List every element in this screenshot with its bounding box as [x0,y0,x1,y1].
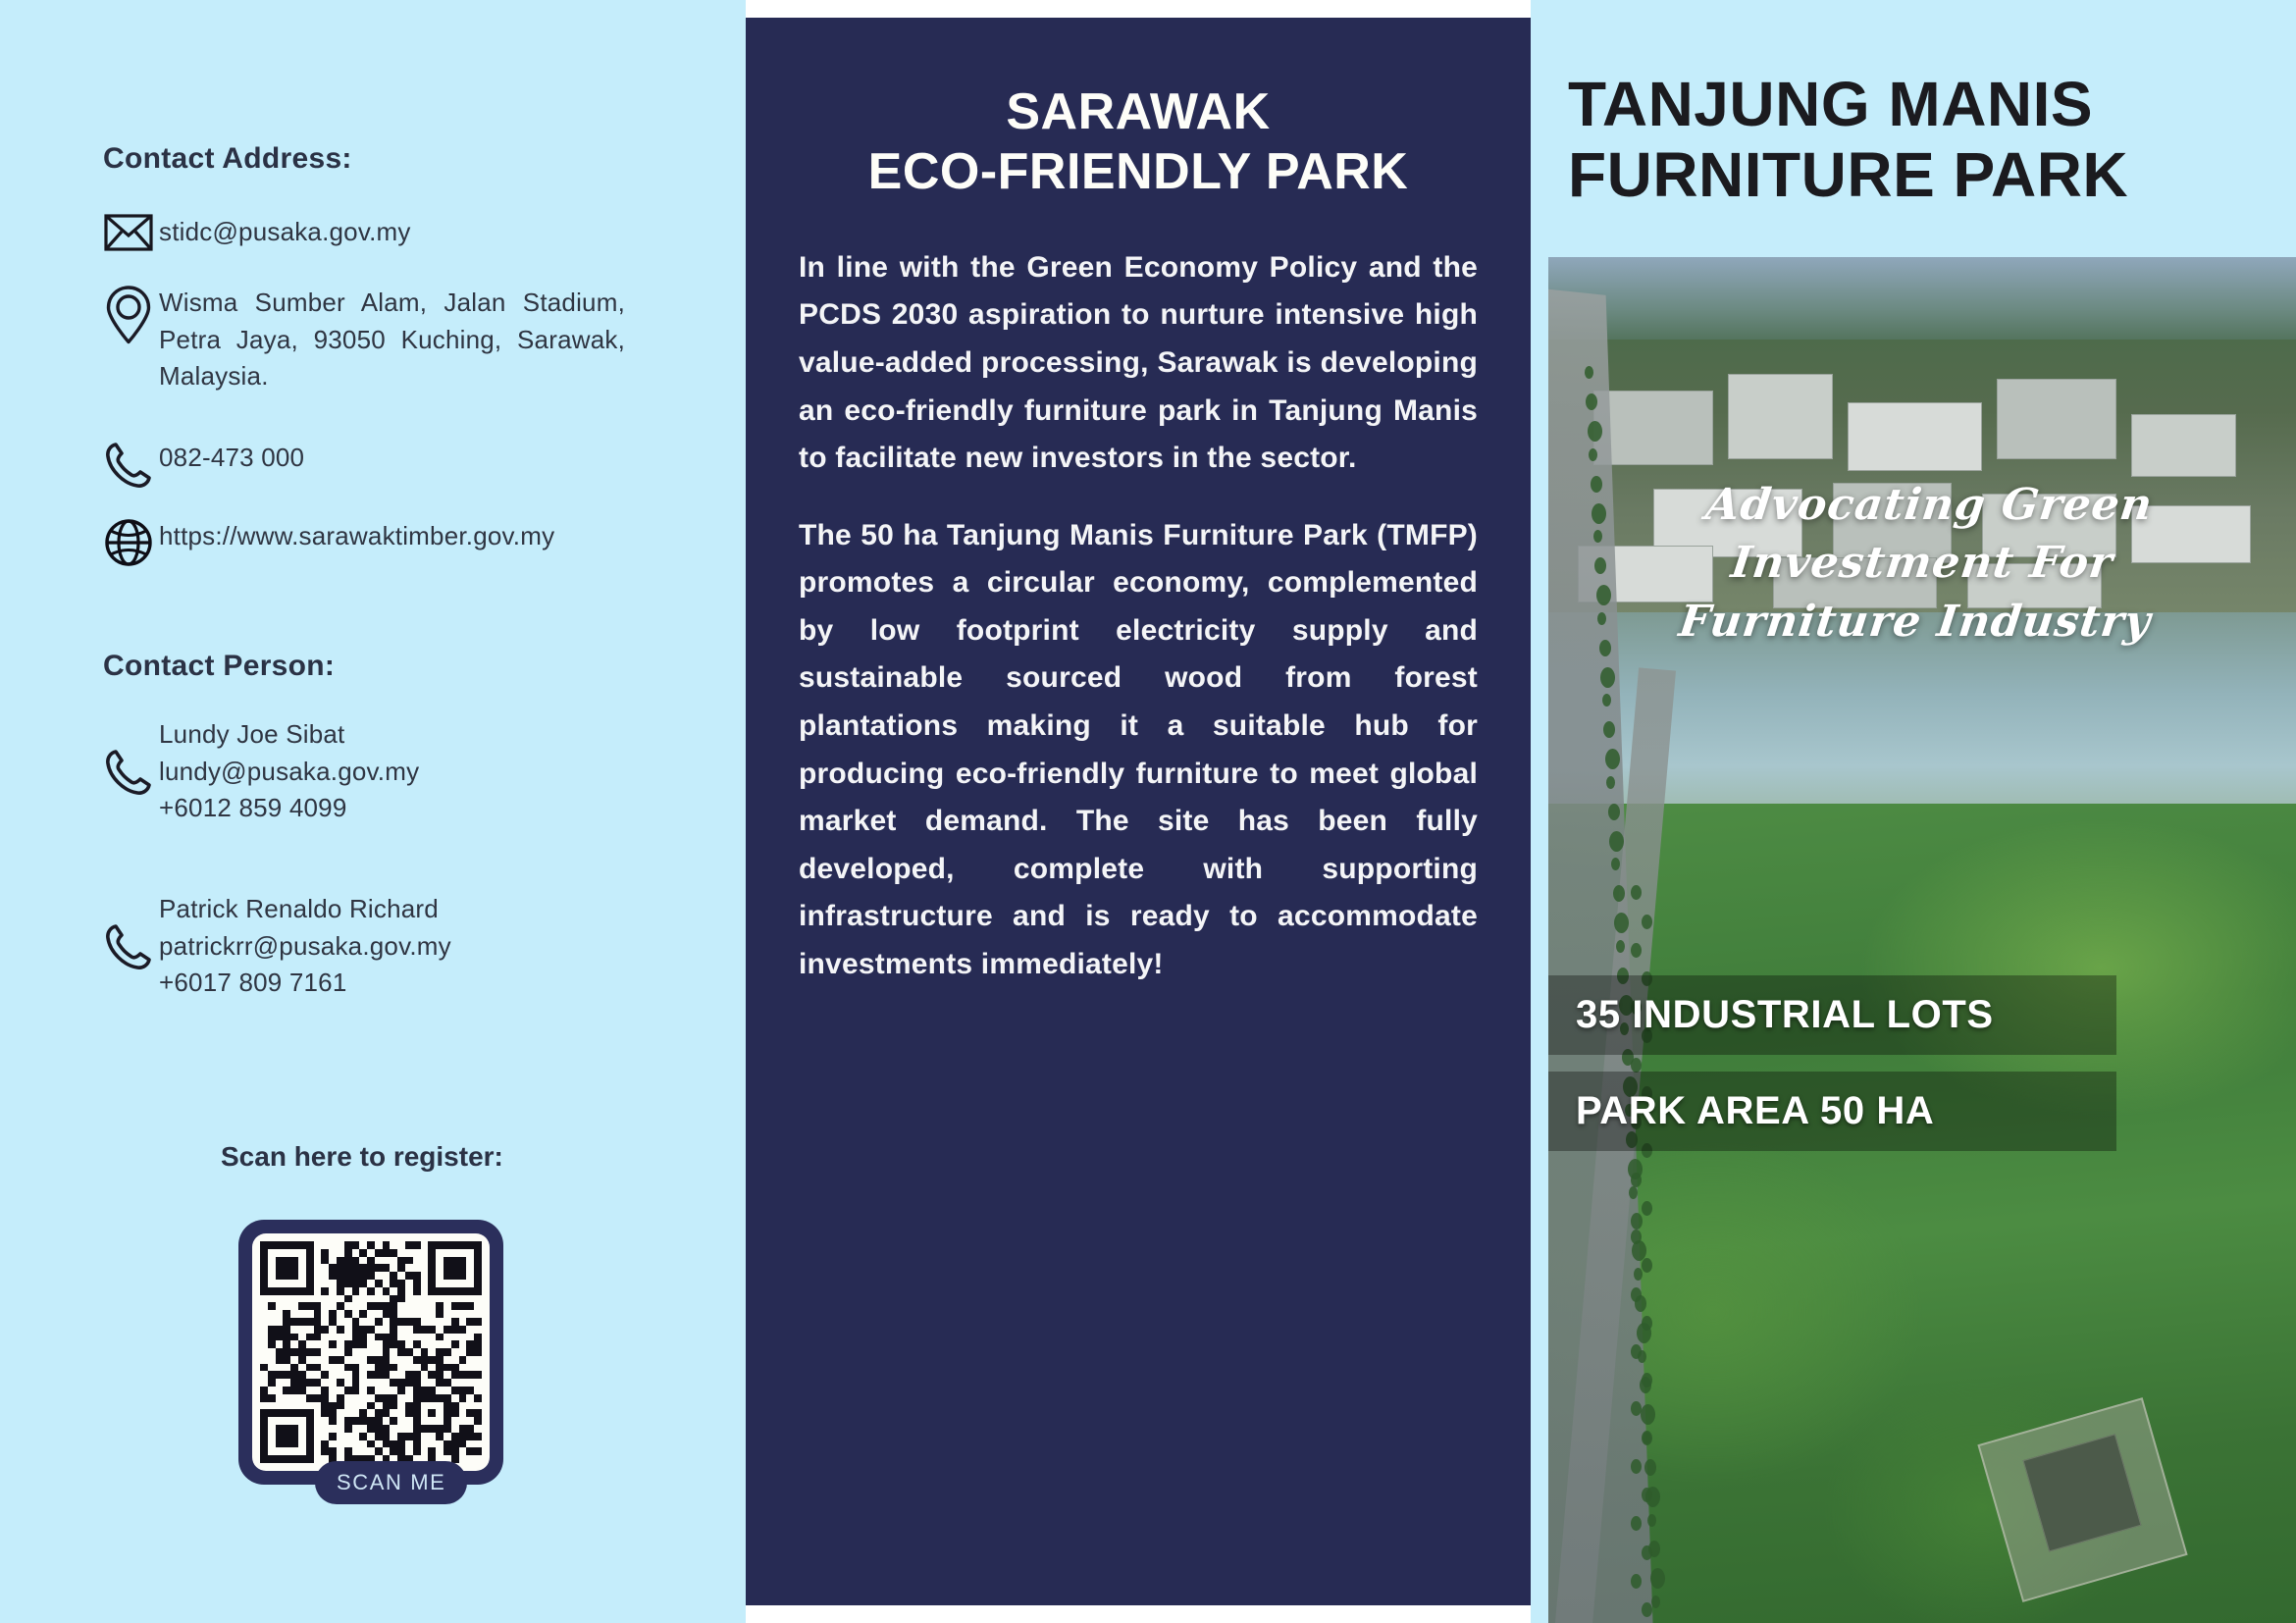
description-panel: SARAWAK ECO-FRIENDLY PARK In line with t… [746,0,1531,1623]
hero-panel: TANJUNG MANIS FURNITURE PARK Advocating … [1531,0,2296,1623]
contact-row-address: Wisma Sumber Alam, Jalan Stadium, Petra … [98,285,625,395]
map-pin-icon [98,285,159,345]
contact-person-1: Lundy Joe Sibat lundy@pusaka.gov.my +601… [98,716,419,827]
qr-code-modules [260,1241,482,1463]
description-paragraph-1: In line with the Green Economy Policy an… [799,244,1478,483]
hero-tagline-line2: Furniture Industry [1676,597,2154,647]
person-1-phone[interactable]: +6012 859 4099 [159,793,347,822]
contact-address: Wisma Sumber Alam, Jalan Stadium, Petra … [159,285,625,395]
envelope-icon [98,214,159,251]
qr-code-inner [252,1233,490,1471]
page-title-line2: ECO-FRIENDLY PARK [868,143,1409,200]
person-1-email[interactable]: lundy@pusaka.gov.my [159,757,419,786]
contact-panel: Contact Address: stidc@pusaka.gov.my Wis… [0,0,746,1623]
hero-tagline: Advocating Green Investment For Furnitur… [1548,476,2296,651]
contact-email[interactable]: stidc@pusaka.gov.my [159,214,411,251]
hero-tagline-line1: Advocating Green Investment For [1703,480,2156,588]
page-title-line1: SARAWAK [1006,83,1270,140]
description-paragraph-2: The 50 ha Tanjung Manis Furniture Park (… [799,512,1478,989]
contact-phone[interactable]: 082-473 000 [159,440,304,477]
contact-website[interactable]: https://www.sarawaktimber.gov.my [159,518,554,555]
aerial-photo: Advocating Green Investment For Furnitur… [1548,257,2296,1623]
phone-icon [98,921,159,972]
phone-icon [98,747,159,798]
phone-icon [98,440,159,491]
contact-person-2: Patrick Renaldo Richard patrickrr@pusaka… [98,891,451,1002]
contact-address-heading: Contact Address: [103,142,352,176]
hero-title-line1: TANJUNG MANIS [1568,69,2093,139]
hero-title: TANJUNG MANIS FURNITURE PARK [1568,69,2255,211]
brochure-page: Contact Address: stidc@pusaka.gov.my Wis… [0,0,2296,1623]
person-2-email[interactable]: patrickrr@pusaka.gov.my [159,931,451,961]
description-card: SARAWAK ECO-FRIENDLY PARK In line with t… [746,18,1531,1605]
stat-park-area: PARK AREA 50 HA [1548,1072,2116,1151]
page-title: SARAWAK ECO-FRIENDLY PARK [787,82,1489,203]
contact-row-phone: 082-473 000 [98,440,304,491]
person-2-phone[interactable]: +6017 809 7161 [159,968,347,997]
contact-person-heading: Contact Person: [103,650,335,683]
contact-row-email: stidc@pusaka.gov.my [98,214,411,251]
scan-me-badge: SCAN ME [315,1461,467,1504]
photo-background [1548,257,2296,1623]
person-2-name: Patrick Renaldo Richard [159,894,439,923]
contact-row-website: https://www.sarawaktimber.gov.my [98,518,554,567]
person-1-name: Lundy Joe Sibat [159,719,344,749]
hero-title-line2: FURNITURE PARK [1568,139,2128,210]
scan-here-heading: Scan here to register: [221,1141,503,1173]
stat-industrial-lots: 35 INDUSTRIAL LOTS [1548,975,2116,1055]
globe-icon [98,518,159,567]
qr-code[interactable] [238,1220,503,1485]
